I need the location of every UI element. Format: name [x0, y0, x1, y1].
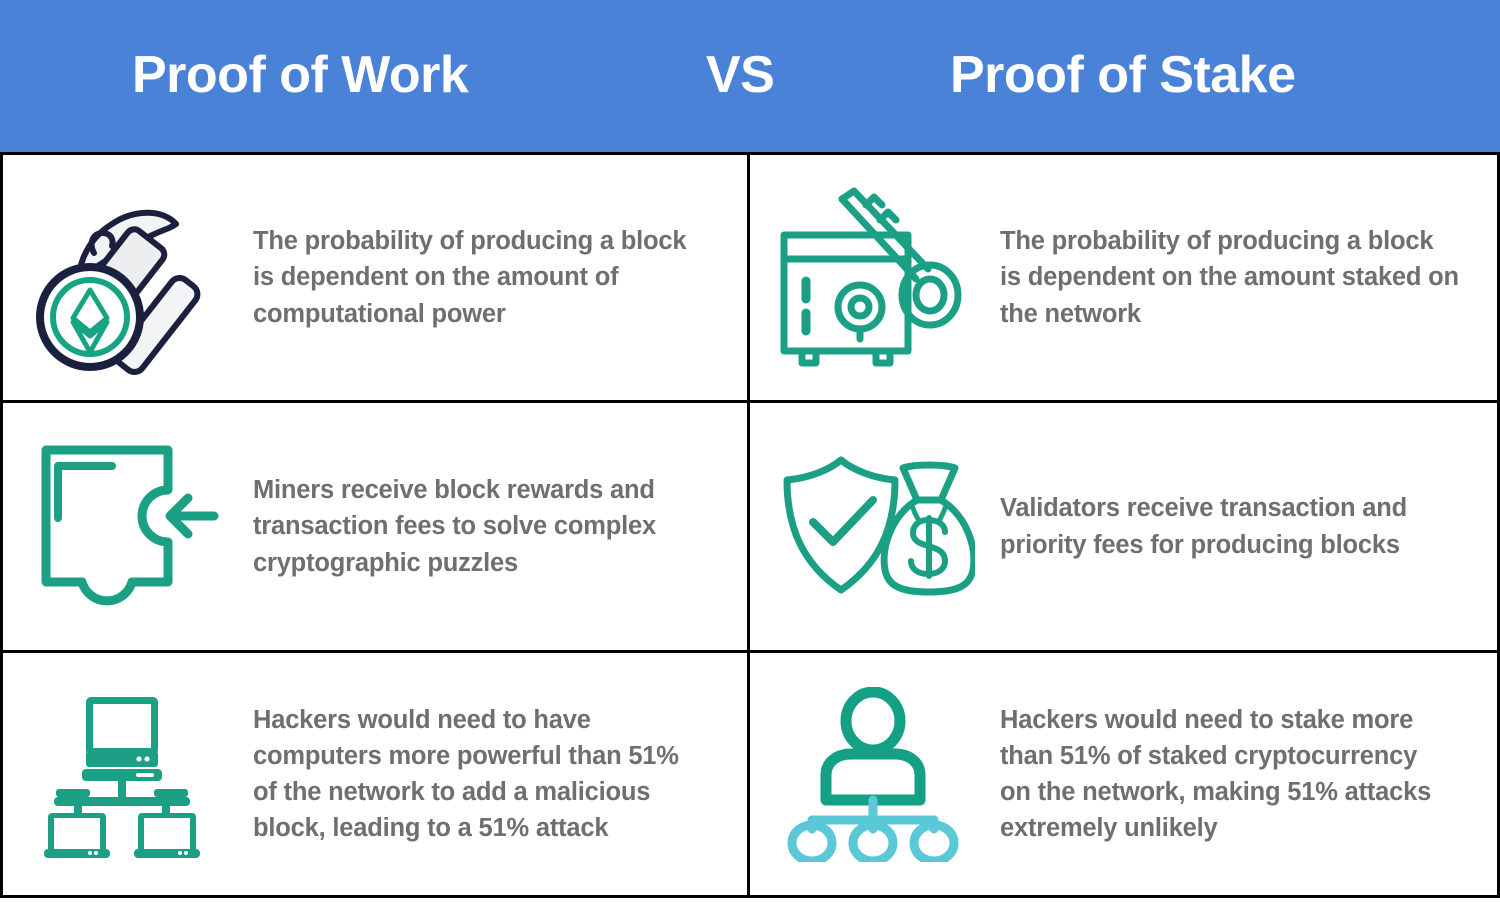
header-banner: Proof of Work VS Proof of Stake: [0, 0, 1500, 152]
cell-text-pos-attack: Hackers would need to stake more than 51…: [1000, 702, 1466, 847]
cell-text-pow-probability: The probability of producing a block is …: [253, 223, 739, 332]
comparison-grid: The probability of producing a block is …: [0, 152, 1500, 898]
person-org-chart-icon: [750, 653, 1000, 895]
shield-check-money-bag-icon: [750, 403, 1000, 650]
cell-pos-probability: The probability of producing a block is …: [750, 152, 1500, 400]
cell-text-pos-probability: The probability of producing a block is …: [1000, 223, 1486, 332]
cell-text-pos-rewards: Validators receive transaction and prior…: [1000, 490, 1486, 562]
cell-pow-rewards: Miners receive block rewards and transac…: [0, 400, 750, 650]
cell-pow-probability: The probability of producing a block is …: [0, 152, 750, 400]
cell-pos-attack: Hackers would need to stake more than 51…: [750, 650, 1500, 898]
computer-network-icon: [3, 653, 253, 895]
cell-text-pow-attack: Hackers would need to have computers mor…: [253, 702, 719, 847]
header-versus-label: VS: [706, 45, 774, 105]
proof-of-work-vs-proof-of-stake-infographic: Proof of Work VS Proof of Stake: [0, 0, 1500, 902]
header-title-proof-of-work: Proof of Work: [132, 45, 468, 105]
pickaxe-ethereum-coin-icon: [3, 155, 253, 400]
cell-pow-attack: Hackers would need to have computers mor…: [0, 650, 750, 898]
cell-text-pow-rewards: Miners receive block rewards and transac…: [253, 472, 739, 581]
header-title-proof-of-stake: Proof of Stake: [950, 45, 1296, 105]
puzzle-piece-arrow-icon: [3, 403, 253, 650]
cell-pos-rewards: Validators receive transaction and prior…: [750, 400, 1500, 650]
safe-with-key-icon: [750, 155, 1000, 400]
